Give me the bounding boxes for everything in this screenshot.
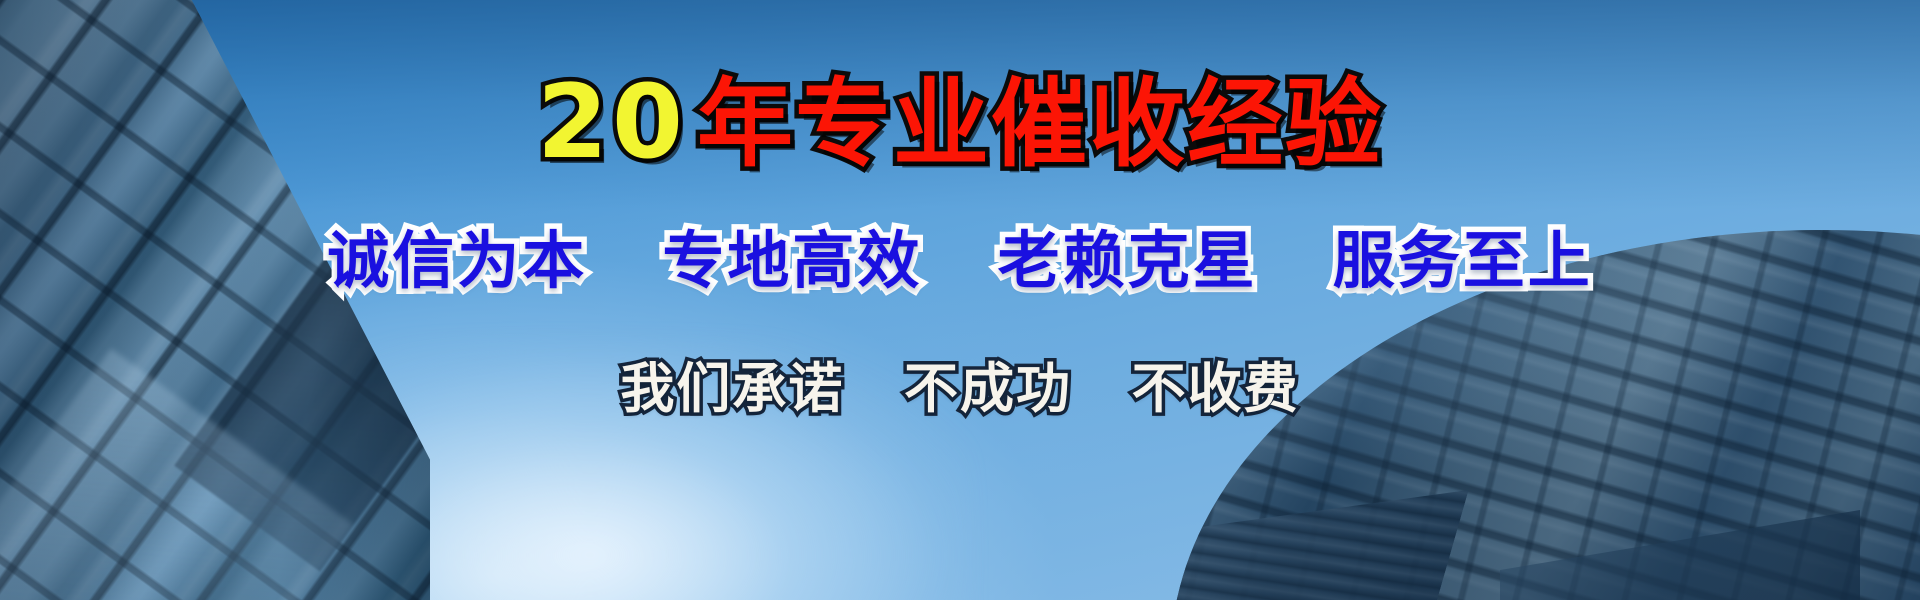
promise-line: 我们承诺 不成功 不收费	[620, 344, 1299, 423]
headline: 20 年专业催收经验	[537, 72, 1383, 174]
slogan-line: 诚信为本 专地高效 老赖克星 服务至上	[327, 210, 1593, 300]
banner-copy: 20 年专业催收经验 诚信为本 专地高效 老赖克星 服务至上 我们承诺 不成功 …	[0, 0, 1920, 600]
promise-part-2: 不成功	[904, 357, 1072, 420]
slogan-part-4: 服务至上	[1333, 224, 1593, 297]
headline-text: 年专业催收经验	[697, 76, 1383, 172]
headline-years-number: 20	[537, 72, 687, 174]
slogan-part-1: 诚信为本	[327, 224, 587, 297]
slogan-part-3: 老赖克星	[998, 224, 1258, 297]
promise-part-1: 我们承诺	[620, 357, 844, 420]
promo-banner: 20 年专业催收经验 诚信为本 专地高效 老赖克星 服务至上 我们承诺 不成功 …	[0, 0, 1920, 600]
promise-part-3: 不收费	[1132, 357, 1300, 420]
slogan-part-2: 专地高效	[662, 224, 922, 297]
